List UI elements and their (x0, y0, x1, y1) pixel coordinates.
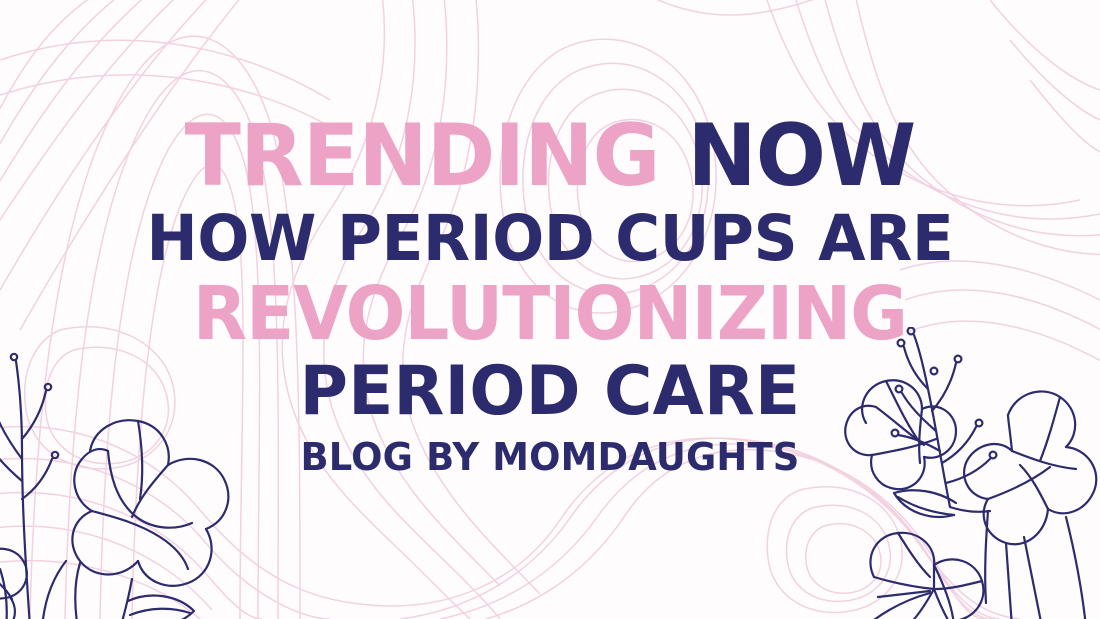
headline-line-3: REVOLUTIONIZING (28, 277, 1073, 351)
headline-trending-text: TRENDING (185, 106, 660, 206)
blog-banner: TRENDING NOW HOW PERIOD CUPS ARE REVOLUT… (0, 0, 1100, 619)
headline-line-1: TRENDING NOW (22, 113, 1078, 199)
headline-now-text: NOW (687, 106, 915, 206)
headline-line-2: HOW PERIOD CUPS ARE (17, 207, 1084, 270)
headline-line-4: PERIOD CARE (17, 358, 1084, 426)
blog-byline: BLOG BY MOMDAUGHTS (17, 438, 1084, 476)
headline-block: TRENDING NOW HOW PERIOD CUPS ARE REVOLUT… (0, 113, 1100, 476)
